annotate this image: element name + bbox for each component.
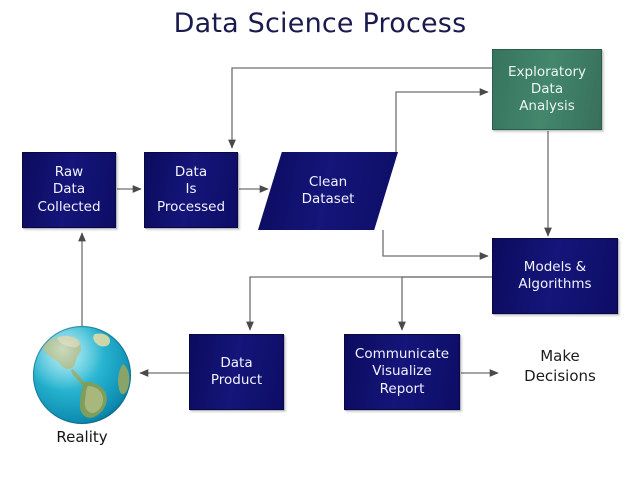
edge-models-to-communicate <box>402 277 492 330</box>
edge-clean-dataset-to-models <box>383 230 488 256</box>
node-communicate-visualize-report[interactable]: Communicate Visualize Report <box>344 334 460 410</box>
node-clean-dataset[interactable]: Clean Dataset <box>258 152 398 230</box>
edge-eda-to-processed <box>232 68 492 148</box>
node-label-line: Raw <box>55 164 83 181</box>
node-label-line: Clean <box>309 174 347 191</box>
node-exploratory-data-analysis[interactable]: Exploratory Data Analysis <box>492 49 602 130</box>
node-label-line: Processed <box>157 199 225 216</box>
node-label-line: Exploratory <box>508 64 586 81</box>
node-label-line: Communicate <box>355 346 449 363</box>
node-label-line: Data <box>53 181 85 198</box>
node-label-line: Dataset <box>302 191 355 208</box>
page-title: Data Science Process <box>0 8 640 39</box>
node-make-decisions: Make Decisions <box>500 347 620 386</box>
node-data-product[interactable]: Data Product <box>189 334 284 410</box>
node-label-line: Is <box>185 181 196 198</box>
node-label-line: Algorithms <box>518 276 591 293</box>
node-label-line: Models & <box>524 259 586 276</box>
node-label-line: Report <box>380 381 425 398</box>
globe-image <box>31 324 133 426</box>
edge-models-to-data-product <box>250 277 492 330</box>
node-label-line: Analysis <box>519 98 575 115</box>
node-label-line: Decisions <box>524 367 596 385</box>
node-label-line: Collected <box>37 199 100 216</box>
node-label-line: Visualize <box>372 363 431 380</box>
edge-clean-dataset-to-eda <box>396 92 488 152</box>
node-models-and-algorithms[interactable]: Models & Algorithms <box>492 238 618 314</box>
node-raw-data-collected[interactable]: Raw Data Collected <box>22 152 116 228</box>
node-label-line: Make <box>540 347 580 365</box>
node-label-line: Product <box>211 372 262 389</box>
node-data-is-processed[interactable]: Data Is Processed <box>144 152 238 228</box>
node-label-line: Data <box>531 81 563 98</box>
globe-label-reality: Reality <box>16 428 148 446</box>
node-label-line: Data <box>220 355 252 372</box>
node-label-line: Data <box>175 164 207 181</box>
